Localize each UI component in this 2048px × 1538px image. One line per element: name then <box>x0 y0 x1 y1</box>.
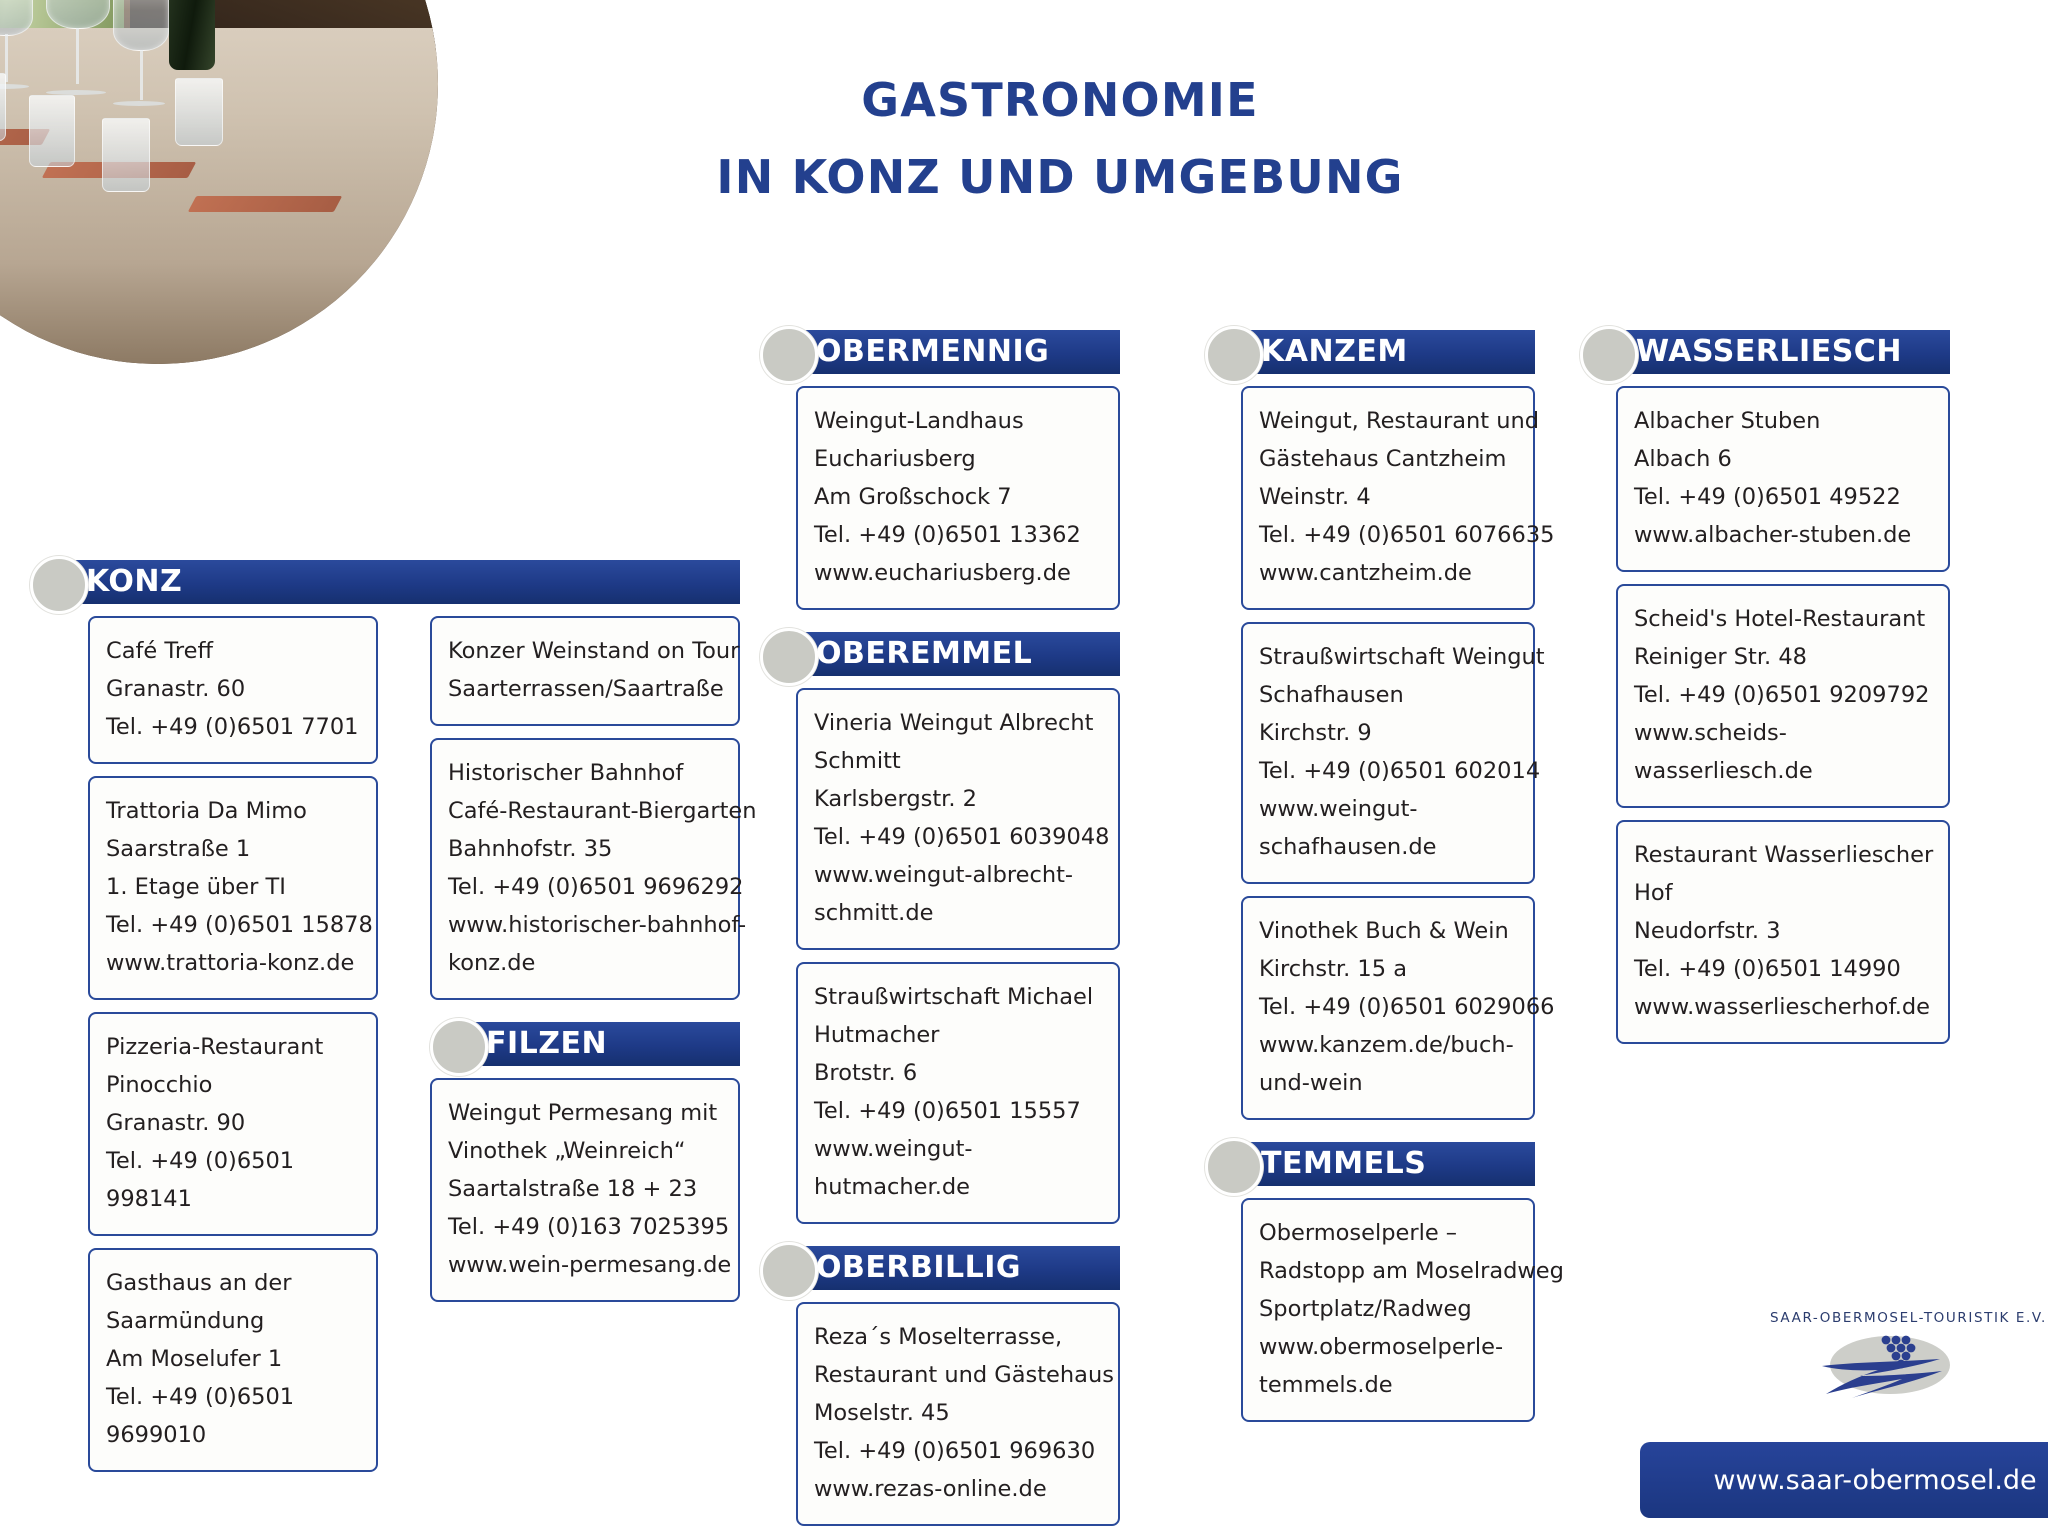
entry-line: Kirchstr. 9 <box>1259 714 1517 752</box>
entry-line: Am Moselufer 1 <box>106 1340 360 1378</box>
entry-line: Scheid's Hotel-Restaurant <box>1634 600 1932 638</box>
entry-line: Café-Restaurant-Biergarten <box>448 792 722 830</box>
entry-card[interactable]: Vineria Weingut Albrecht Schmitt Karlsbe… <box>796 688 1120 950</box>
entry-line: Tel. +49 (0)6501 7701 <box>106 708 360 746</box>
entry-line: 998141 <box>106 1180 360 1218</box>
entry-line: Tel. +49 (0)6501 14990 <box>1634 950 1932 988</box>
section-header-kanzem: KANZEM <box>1205 330 1535 374</box>
entry-line: Café Treff <box>106 632 360 670</box>
entry-card[interactable]: Konzer Weinstand on Tour Saarterrassen/S… <box>430 616 740 726</box>
entry-line: www.weingut- <box>814 1130 1102 1168</box>
section-header-filzen: FILZEN <box>430 1022 740 1066</box>
entry-line: Neudorfstr. 3 <box>1634 912 1932 950</box>
entry-card[interactable]: Restaurant Wasserliescher Hof Neudorfstr… <box>1616 820 1950 1044</box>
entry-line: www.cantzheim.de <box>1259 554 1517 592</box>
section-header-wasserliesch: WASSERLIESCH <box>1580 330 1950 374</box>
footer-url: www.saar-obermosel.de <box>1713 1465 2036 1496</box>
column-kanzem: KANZEM Weingut, Restaurant und Gästehaus… <box>1205 330 1535 1434</box>
entry-line: Granastr. 60 <box>106 670 360 708</box>
entry-line: konz.de <box>448 944 722 982</box>
entry-line: www.euchariusberg.de <box>814 554 1102 592</box>
section-title-oberbillig: OBERBILLIG <box>816 1246 1021 1290</box>
entry-line: www.wein-permesang.de <box>448 1246 722 1284</box>
photo-water-tumbler <box>175 78 223 146</box>
circle-badge-icon <box>30 556 88 614</box>
entry-line: Radstopp am Moselradweg <box>1259 1252 1517 1290</box>
entry-line: www.weingut-albrecht- <box>814 856 1102 894</box>
entry-line: 1. Etage über TI <box>106 868 360 906</box>
circle-badge-icon <box>760 628 818 686</box>
photo-glass-stem <box>140 50 143 100</box>
entry-line: Bahnhofstr. 35 <box>448 830 722 868</box>
entry-line: Saarmündung <box>106 1302 360 1340</box>
entry-line: www.trattoria-konz.de <box>106 944 360 982</box>
entry-card[interactable]: Weingut, Restaurant und Gästehaus Cantzh… <box>1241 386 1535 610</box>
entry-line: Euchariusberg <box>814 440 1102 478</box>
hero-photo-wine-glasses <box>0 0 438 364</box>
entry-line: Brotstr. 6 <box>814 1054 1102 1092</box>
entry-line: Schafhausen <box>1259 676 1517 714</box>
entry-line: Hof <box>1634 874 1932 912</box>
entry-line: Straußwirtschaft Weingut <box>1259 638 1517 676</box>
entry-line: Moselstr. 45 <box>814 1394 1102 1432</box>
entry-line: Trattoria Da Mimo <box>106 792 360 830</box>
entry-line: www.wasserliescherhof.de <box>1634 988 1932 1026</box>
entry-line: wasserliesch.de <box>1634 752 1932 790</box>
section-header-oberemmel: OBEREMMEL <box>760 632 1120 676</box>
entry-line: schmitt.de <box>814 894 1102 932</box>
section-header-konz: KONZ <box>30 560 740 604</box>
footer-website-bar[interactable]: www.saar-obermosel.de <box>1640 1442 2048 1518</box>
circle-badge-icon <box>430 1018 488 1076</box>
entry-card[interactable]: Weingut Permesang mit Vinothek „Weinreic… <box>430 1078 740 1302</box>
photo-water-tumbler <box>0 73 6 141</box>
entry-line: Tel. +49 (0)6501 <box>106 1378 360 1416</box>
entry-line: hutmacher.de <box>814 1168 1102 1206</box>
entry-line: Weingut, Restaurant und <box>1259 402 1517 440</box>
entry-line: Reza´s Moselterrasse, <box>814 1318 1102 1356</box>
entry-line: Restaurant Wasserliescher <box>1634 836 1932 874</box>
entry-line: Schmitt <box>814 742 1102 780</box>
entry-line: www.weingut- <box>1259 790 1517 828</box>
entry-card[interactable]: Obermoselperle – Radstopp am Moselradweg… <box>1241 1198 1535 1422</box>
entry-line: Albacher Stuben <box>1634 402 1932 440</box>
entry-card[interactable]: Vinothek Buch & Wein Kirchstr. 15 a Tel.… <box>1241 896 1535 1120</box>
entry-line: Reiniger Str. 48 <box>1634 638 1932 676</box>
photo-water-tumbler <box>102 118 150 192</box>
logo-text: SAAR-OBERMOSEL-TOURISTIK E.V. <box>1770 1310 2010 1326</box>
konz-entries-right: Konzer Weinstand on Tour Saarterrassen/S… <box>430 616 740 1314</box>
section-filzen: FILZEN Weingut Permesang mit Vinothek „W… <box>430 1022 740 1302</box>
entry-line: und-wein <box>1259 1064 1517 1102</box>
title-line-2: IN KONZ UND UMGEBUNG <box>610 151 1510 204</box>
entry-line: Saarstraße 1 <box>106 830 360 868</box>
organization-logo: SAAR-OBERMOSEL-TOURISTIK E.V. <box>1770 1310 2010 1412</box>
column-obermennig: OBERMENNIG Weingut-Landhaus Euchariusber… <box>760 330 1120 1538</box>
entry-line: 9699010 <box>106 1416 360 1454</box>
entry-line: Tel. +49 (0)6501 15557 <box>814 1092 1102 1130</box>
page-title: GASTRONOMIE IN KONZ UND UMGEBUNG <box>610 74 1510 204</box>
entry-line: temmels.de <box>1259 1366 1517 1404</box>
entry-line: Vinothek „Weinreich“ <box>448 1132 722 1170</box>
photo-glass-stem <box>76 28 79 84</box>
entry-line: Weingut Permesang mit <box>448 1094 722 1132</box>
entry-line: Weinstr. 4 <box>1259 478 1517 516</box>
entry-line: www.albacher-stuben.de <box>1634 516 1932 554</box>
entry-card[interactable]: Historischer Bahnhof Café-Restaurant-Bie… <box>430 738 740 1000</box>
section-oberemmel: OBEREMMEL Vineria Weingut Albrecht Schmi… <box>760 632 1120 1224</box>
section-title-filzen: FILZEN <box>486 1022 607 1066</box>
entry-line: www.historischer-bahnhof- <box>448 906 722 944</box>
entry-line: www.obermoselperle- <box>1259 1328 1517 1366</box>
photo-wine-glass <box>113 0 169 51</box>
entry-line: Hutmacher <box>814 1016 1102 1054</box>
entry-line: Tel. +49 (0)6501 9696292 <box>448 868 722 906</box>
entry-line: Tel. +49 (0)6501 9209792 <box>1634 676 1932 714</box>
section-title-kanzem: KANZEM <box>1261 330 1408 374</box>
entry-line: Tel. +49 (0)6501 969630 <box>814 1432 1102 1470</box>
entry-line: Tel. +49 (0)6501 6076635 <box>1259 516 1517 554</box>
section-title-konz: KONZ <box>86 560 182 604</box>
entry-card[interactable]: Scheid's Hotel-Restaurant Reiniger Str. … <box>1616 584 1950 808</box>
entry-line: Tel. +49 (0)6501 602014 <box>1259 752 1517 790</box>
section-title-temmels: TEMMELS <box>1261 1142 1426 1186</box>
entry-line: Tel. +49 (0)6501 15878 <box>106 906 360 944</box>
circle-badge-icon <box>760 1242 818 1300</box>
entry-line: Tel. +49 (0)6501 49522 <box>1634 478 1932 516</box>
circle-badge-icon <box>1205 1138 1263 1196</box>
circle-badge-icon <box>760 326 818 384</box>
entry-line: Am Großschock 7 <box>814 478 1102 516</box>
photo-placemat <box>187 196 341 212</box>
entry-line: Restaurant und Gästehaus <box>814 1356 1102 1394</box>
section-title-oberemmel: OBEREMMEL <box>816 632 1032 676</box>
entry-line: Albach 6 <box>1634 440 1932 478</box>
entry-line: Tel. +49 (0)6501 13362 <box>814 516 1102 554</box>
entry-line: Gästehaus Cantzheim <box>1259 440 1517 478</box>
entry-line: Vinothek Buch & Wein <box>1259 912 1517 950</box>
entry-card[interactable]: Straußwirtschaft Michael Hutmacher Brots… <box>796 962 1120 1224</box>
entry-line: Straußwirtschaft Michael <box>814 978 1102 1016</box>
entry-line: Sportplatz/Radweg <box>1259 1290 1517 1328</box>
circle-badge-icon <box>1205 326 1263 384</box>
entry-line: Pinocchio <box>106 1066 360 1104</box>
entry-line: Weingut-Landhaus <box>814 402 1102 440</box>
entry-card[interactable]: Reza´s Moselterrasse, Restaurant und Gäs… <box>796 1302 1120 1526</box>
entry-line: Karlsbergstr. 2 <box>814 780 1102 818</box>
circle-badge-icon <box>1580 326 1638 384</box>
entry-card[interactable]: Albacher Stuben Albach 6 Tel. +49 (0)650… <box>1616 386 1950 572</box>
entry-line: Obermoselperle – <box>1259 1214 1517 1252</box>
entry-line: Saarterrassen/Saartraße <box>448 670 722 708</box>
entry-card[interactable]: Weingut-Landhaus Euchariusberg Am Großsc… <box>796 386 1120 610</box>
entry-line: Konzer Weinstand on Tour <box>448 632 722 670</box>
entry-line: Gasthaus an der <box>106 1264 360 1302</box>
entry-line: Pizzeria-Restaurant <box>106 1028 360 1066</box>
entry-line: Tel. +49 (0)6501 6029066 <box>1259 988 1517 1026</box>
entry-card[interactable]: Trattoria Da Mimo Saarstraße 1 1. Etage … <box>88 776 378 1000</box>
entry-line: Saartalstraße 18 + 23 <box>448 1170 722 1208</box>
section-oberbillig: OBERBILLIG Reza´s Moselterrasse, Restaur… <box>760 1246 1120 1526</box>
entry-line: schafhausen.de <box>1259 828 1517 866</box>
entry-line: Tel. +49 (0)163 7025395 <box>448 1208 722 1246</box>
entry-line: www.rezas-online.de <box>814 1470 1102 1508</box>
entry-line: www.kanzem.de/buch- <box>1259 1026 1517 1064</box>
section-title-wasserliesch: WASSERLIESCH <box>1636 330 1902 374</box>
photo-glass-foot <box>113 101 165 106</box>
section-temmels: TEMMELS Obermoselperle – Radstopp am Mos… <box>1205 1142 1535 1422</box>
entry-card[interactable]: Gasthaus an der Saarmündung Am Moselufer… <box>88 1248 378 1472</box>
photo-water-tumbler <box>29 95 75 167</box>
entry-line: www.scheids- <box>1634 714 1932 752</box>
entry-line: Historischer Bahnhof <box>448 754 722 792</box>
column-konz: KONZ Café Treff Granastr. 60 Tel. +49 (0… <box>30 560 740 616</box>
section-header-temmels: TEMMELS <box>1205 1142 1535 1186</box>
logo-mark <box>1790 1332 1990 1412</box>
section-title-obermennig: OBERMENNIG <box>816 330 1049 374</box>
entry-card[interactable]: Pizzeria-Restaurant Pinocchio Granastr. … <box>88 1012 378 1236</box>
photo-glass-foot <box>46 90 106 95</box>
entry-line: Tel. +49 (0)6501 6039048 <box>814 818 1102 856</box>
entry-card[interactable]: Straußwirtschaft Weingut Schafhausen Kir… <box>1241 622 1535 884</box>
entry-line: Tel. +49 (0)6501 <box>106 1142 360 1180</box>
section-header-oberbillig: OBERBILLIG <box>760 1246 1120 1290</box>
entry-line: Granastr. 90 <box>106 1104 360 1142</box>
entry-card[interactable]: Café Treff Granastr. 60 Tel. +49 (0)6501… <box>88 616 378 764</box>
title-line-1: GASTRONOMIE <box>610 74 1510 127</box>
konz-entries-left: Café Treff Granastr. 60 Tel. +49 (0)6501… <box>88 616 378 1484</box>
section-header-obermennig: OBERMENNIG <box>760 330 1120 374</box>
logo-river-grapes-icon <box>1790 1332 1990 1412</box>
photo-wine-bottle <box>169 0 215 70</box>
column-wasserliesch: WASSERLIESCH Albacher Stuben Albach 6 Te… <box>1580 330 1950 1056</box>
entry-line: Vineria Weingut Albrecht <box>814 704 1102 742</box>
entry-line: Kirchstr. 15 a <box>1259 950 1517 988</box>
